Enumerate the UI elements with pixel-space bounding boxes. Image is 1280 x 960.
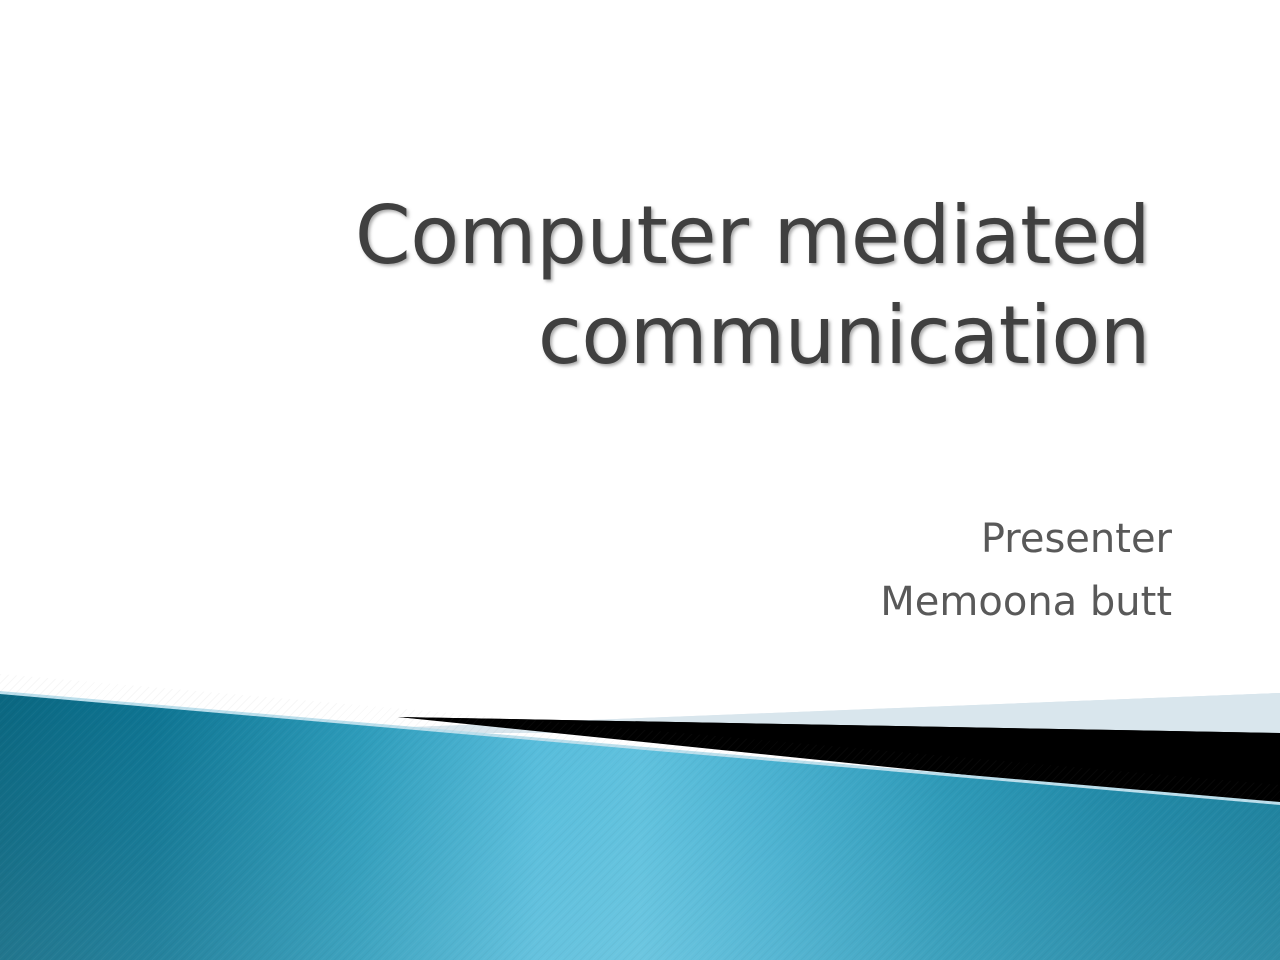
slide-title[interactable]: Computer mediated communication — [130, 186, 1150, 386]
subtitle-line-presenter-label: Presenter — [300, 508, 1172, 571]
subtitle-line-presenter-name: Memoona butt — [300, 571, 1172, 634]
slide-canvas: Computer mediated communication Presente… — [0, 0, 1280, 960]
title-line-2: communication — [130, 286, 1150, 386]
bottom-decoration — [0, 670, 1280, 960]
decoration-shapes — [0, 670, 1280, 960]
title-line-1: Computer mediated — [130, 186, 1150, 286]
slide-subtitle[interactable]: Presenter Memoona butt — [300, 508, 1172, 634]
